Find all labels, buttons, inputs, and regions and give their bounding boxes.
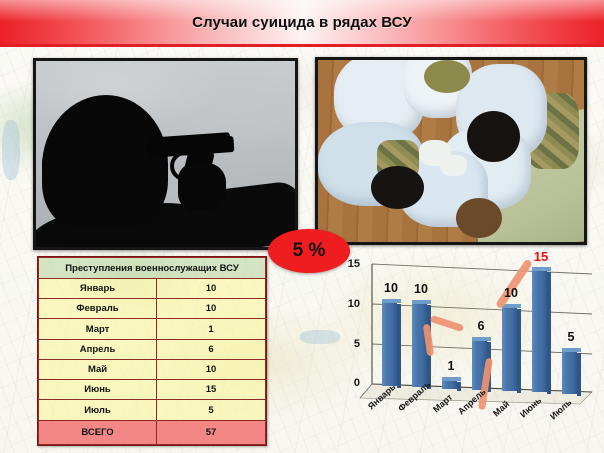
table-row: Январь 10 xyxy=(39,279,266,299)
y-tick-0: 0 xyxy=(338,377,360,389)
table-row: Март 1 xyxy=(39,319,266,339)
cell-total-label: ВСЕГО xyxy=(39,420,157,444)
cell-value: 10 xyxy=(157,359,266,379)
cell-month: Июнь xyxy=(39,380,157,400)
table-header-row: Преступления военнослужащих ВСУ xyxy=(39,258,266,279)
bar-3-top xyxy=(472,337,491,341)
table-total-row: ВСЕГО 57 xyxy=(39,420,266,444)
cell-month: Январь xyxy=(39,279,157,299)
crimes-table-container: Преступления военнослужащих ВСУ Январь 1… xyxy=(37,256,267,446)
bar-2 xyxy=(442,380,457,389)
cell-value: 5 xyxy=(157,400,266,420)
cell-value: 10 xyxy=(157,279,266,299)
bar-6 xyxy=(562,351,577,394)
bar-0 xyxy=(382,302,397,386)
table-row: Май 10 xyxy=(39,359,266,379)
table-row: Апрель 6 xyxy=(39,339,266,359)
cell-value: 15 xyxy=(157,380,266,400)
bar-0-side xyxy=(397,304,401,388)
y-tick-10: 10 xyxy=(338,298,360,310)
cell-month: Май xyxy=(39,359,157,379)
bar-label-1: 10 xyxy=(406,282,436,296)
bar-2-side xyxy=(457,382,461,391)
y-tick-5: 5 xyxy=(338,338,360,350)
silhouette-hand xyxy=(178,163,226,211)
percent-badge-label: 5 % xyxy=(293,240,326,262)
bar-label-4: 10 xyxy=(496,286,526,300)
percent-badge: 5 % xyxy=(268,229,350,273)
bar-0-top xyxy=(382,299,401,303)
bar-label-3: 6 xyxy=(466,319,496,333)
chart-plot-area xyxy=(330,252,600,448)
crimes-table: Преступления военнослужащих ВСУ Январь 1… xyxy=(38,257,266,445)
map-water-patch xyxy=(2,120,20,180)
bar-6-side xyxy=(577,353,581,396)
table-title-cell: Преступления военнослужащих ВСУ xyxy=(39,258,266,279)
cell-value: 10 xyxy=(157,299,266,319)
bar-label-2: 1 xyxy=(436,359,466,373)
photo-suicide-silhouette xyxy=(33,58,298,250)
banner-bottom-rule xyxy=(0,44,604,47)
cell-month: Июль xyxy=(39,400,157,420)
table-body: Январь 10 Февраль 10 Март 1 Апрель 6 Май xyxy=(39,279,266,445)
bar-4 xyxy=(502,307,517,391)
silhouette-ear xyxy=(42,147,66,181)
bar-2-top xyxy=(442,377,461,381)
table-row: Февраль 10 xyxy=(39,299,266,319)
cell-month: Февраль xyxy=(39,299,157,319)
cell-month: Март xyxy=(39,319,157,339)
person-head xyxy=(467,111,520,162)
cell-value: 6 xyxy=(157,339,266,359)
medical-glove xyxy=(440,155,467,177)
bar-label-5: 15 xyxy=(526,249,556,264)
table-row: Июль 5 xyxy=(39,400,266,420)
cell-value: 1 xyxy=(157,319,266,339)
person-head xyxy=(456,198,501,238)
bar-5 xyxy=(532,270,547,392)
crimes-bar-chart: 15 10 5 0 xyxy=(330,252,600,448)
bar-label-0: 10 xyxy=(376,281,406,295)
cell-total-value: 57 xyxy=(157,420,266,444)
slide-canvas: Случаи суицида в рядах ВСУ 5 % xyxy=(0,0,604,453)
bar-label-6: 5 xyxy=(556,330,586,344)
bar-1-top xyxy=(412,300,431,304)
photo-medics-scene xyxy=(315,57,587,245)
bar-5-top xyxy=(532,267,551,271)
bar-6-top xyxy=(562,348,581,352)
page-title: Случаи суицида в рядах ВСУ xyxy=(0,0,604,44)
bar-4-side xyxy=(517,309,521,393)
bar-5-side xyxy=(547,272,551,394)
cell-month: Апрель xyxy=(39,339,157,359)
person-head xyxy=(424,60,469,93)
table-row: Июнь 15 xyxy=(39,380,266,400)
